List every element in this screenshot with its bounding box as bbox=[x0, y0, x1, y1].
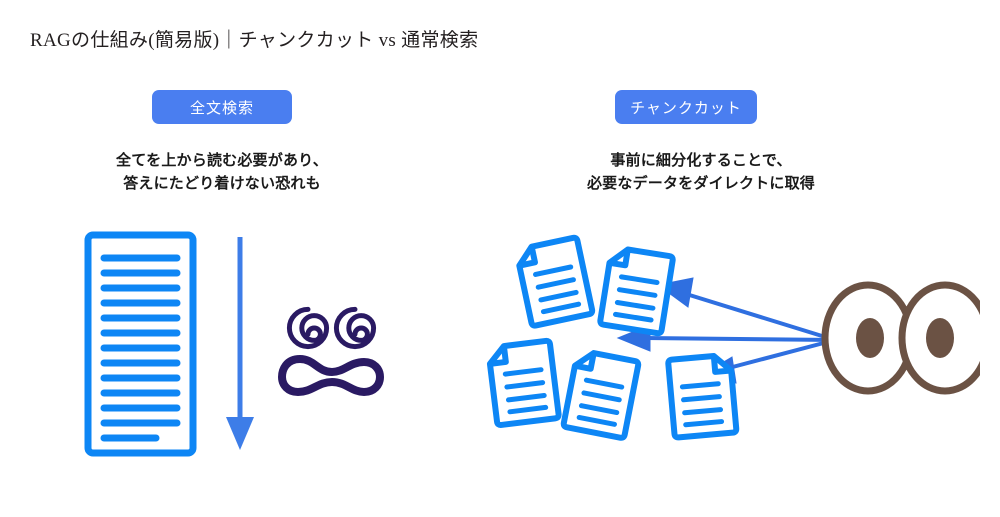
slide-canvas: RAGの仕組み(簡易版)｜チャンクカット vs 通常検索 全文検索 チャンクカッ… bbox=[0, 0, 1000, 517]
caption-full-text-search: 全てを上から読む必要があり、 答えにたどり着けない恐れも bbox=[72, 149, 372, 195]
caption-left-line1: 全てを上から読む必要があり、 bbox=[116, 152, 328, 169]
eye-right bbox=[902, 285, 980, 391]
down-arrow-icon bbox=[226, 237, 254, 450]
page-title: RAGの仕組み(簡易版)｜チャンクカット vs 通常検索 bbox=[30, 27, 478, 55]
badge-full-text-search: 全文検索 bbox=[152, 90, 292, 124]
direct-access-arrow-2 bbox=[618, 325, 835, 351]
eyes-icon bbox=[825, 285, 980, 391]
right-illustration bbox=[450, 225, 980, 475]
chunk-document bbox=[600, 247, 673, 334]
chunk-document bbox=[488, 340, 559, 425]
long-document-icon bbox=[88, 235, 193, 453]
caption-right-line2: 必要なデータをダイレクトに取得 bbox=[536, 172, 866, 195]
direct-access-arrows bbox=[618, 278, 835, 383]
badge-right-label: チャンクカット bbox=[630, 97, 742, 118]
direct-access-arrow-1 bbox=[658, 278, 835, 340]
chunk-document bbox=[563, 350, 639, 438]
dizzy-face-icon bbox=[282, 309, 380, 392]
left-illustration bbox=[60, 225, 400, 475]
wavy-mouth bbox=[282, 359, 380, 392]
spiral-left-eye bbox=[289, 309, 326, 346]
chunk-document bbox=[668, 355, 737, 438]
eye-left bbox=[825, 285, 911, 391]
direct-access-arrow-3 bbox=[700, 340, 835, 383]
badge-left-label: 全文検索 bbox=[190, 97, 254, 118]
spiral-right-eye bbox=[336, 309, 373, 346]
caption-right-line1: 事前に細分化することで、 bbox=[610, 152, 791, 169]
caption-left-line2: 答えにたどり着けない恐れも bbox=[72, 172, 372, 195]
scattered-document-chunks bbox=[488, 237, 737, 438]
document-text-lines bbox=[104, 258, 177, 438]
badge-chunk-cut: チャンクカット bbox=[615, 90, 757, 124]
chunk-document bbox=[516, 237, 593, 326]
caption-chunk-cut: 事前に細分化することで、 必要なデータをダイレクトに取得 bbox=[536, 149, 866, 195]
